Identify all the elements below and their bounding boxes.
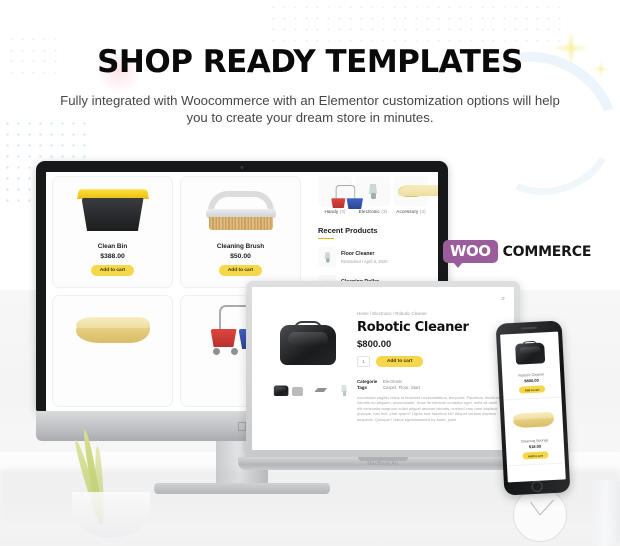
mobile-product-card[interactable]: Cleaning Sponge $18.00 Add to cart xyxy=(504,397,565,466)
glass-decor xyxy=(592,480,620,546)
category-list: Handy (3) xyxy=(318,176,432,214)
woo-wordmark: COMMERCE xyxy=(503,244,592,260)
product-hero-image xyxy=(266,315,350,377)
product-card[interactable]: Cleaning Brush $50.00 Add to cart xyxy=(180,176,301,288)
product-image-robotic-cleaner xyxy=(500,336,565,372)
product-price: $388.00 xyxy=(100,253,125,260)
woo-badge: WOO xyxy=(443,240,498,263)
home-button-icon[interactable] xyxy=(531,481,543,493)
product-price: $18.00 xyxy=(529,444,541,450)
meta-row-tags: TagsCarpet, Floor, Start xyxy=(357,385,420,391)
category-count: (3) xyxy=(420,209,426,214)
product-name: Clean Bin xyxy=(98,243,127,250)
page-subtitle: Fully integrated with Woocommerce with a… xyxy=(58,92,562,126)
product-title: Robotic Cleaner xyxy=(357,320,469,335)
category-item-accessory[interactable]: Accessory (3) xyxy=(394,176,428,214)
macbook-screen: ⌕ xyxy=(252,287,514,450)
shop-sidebar: Handy (3) xyxy=(318,176,432,295)
add-to-cart-button[interactable]: Add to cart xyxy=(522,451,549,459)
product-image-sponge xyxy=(500,402,566,438)
product-card[interactable] xyxy=(52,295,173,407)
meta-value: Carpet, Floor, Start xyxy=(383,385,420,390)
product-thumbnail-gallery xyxy=(266,383,352,398)
plant-decor xyxy=(52,404,172,524)
category-thumb-accessory xyxy=(394,176,428,206)
category-name: Electronic xyxy=(359,209,380,214)
product-description: Accumsan sagittis tellus ut tincidunt ne… xyxy=(357,395,503,422)
add-to-cart-button[interactable]: Add to cart xyxy=(376,356,423,367)
recent-product-item[interactable]: Floor Cleaner Restocked / April 6, 2020 xyxy=(318,247,432,267)
floor-cleaner-icon xyxy=(322,250,333,264)
macbook-base: MacBook Air xyxy=(238,457,528,470)
product-price: $50.00 xyxy=(230,253,251,260)
thumbnail-4[interactable] xyxy=(335,383,352,398)
grey-box-icon xyxy=(291,385,304,397)
category-thumb-handy xyxy=(318,176,352,206)
product-image-sponge xyxy=(69,302,157,358)
product-meta: CategorieElectronic TagsCarpet, Floor, S… xyxy=(357,379,420,391)
search-icon[interactable]: ⌕ xyxy=(502,296,505,303)
add-to-cart-button[interactable]: Add to cart xyxy=(219,265,262,276)
meta-label: Tags xyxy=(357,385,383,391)
heading-underline xyxy=(318,238,334,239)
category-count: (3) xyxy=(381,209,387,214)
recent-product-meta: Restocked / April 6, 2020 xyxy=(341,259,388,264)
recent-product-thumb xyxy=(318,247,336,267)
recent-product-name: Floor Cleaner xyxy=(341,251,388,257)
breadcrumb: Home / Electronic / Robotic Cleaner xyxy=(357,311,427,316)
iphone-screen: Robotic Cleaner $800.00 Add to cart Clea… xyxy=(500,332,566,483)
watch-decor xyxy=(513,488,567,542)
category-name: Handy xyxy=(324,209,338,214)
product-price: $800.00 xyxy=(357,339,391,350)
product-name: Cleaning Sponge xyxy=(521,438,549,443)
product-name: Robotic Cleaner xyxy=(518,372,544,377)
meta-value: Electronic xyxy=(383,379,402,384)
iphone-body: Robotic Cleaner $800.00 Add to cart Clea… xyxy=(496,320,571,495)
macbook-device: ⌕ xyxy=(238,281,528,477)
product-name: Cleaning Brush xyxy=(217,243,264,250)
webcam-icon xyxy=(241,166,244,169)
category-item-handy[interactable]: Handy (3) xyxy=(318,176,352,214)
floor-cleaner-icon xyxy=(365,182,381,200)
cleaner-icon xyxy=(339,384,349,397)
category-label: Accessory (3) xyxy=(394,209,428,214)
product-card[interactable]: Clean Bin $388.00 Add to cart xyxy=(52,176,173,288)
product-price: $800.00 xyxy=(524,378,539,384)
dot-pattern-top xyxy=(268,2,568,42)
flat-pad-icon xyxy=(314,386,328,395)
quantity-stepper[interactable]: 1 xyxy=(357,356,370,367)
add-to-cart-button[interactable]: Add to cart xyxy=(91,265,134,276)
product-image-clean-bin xyxy=(69,183,157,239)
recent-products-heading: Recent Products xyxy=(318,226,432,235)
page-title: SHOP READY TEMPLATES xyxy=(0,44,620,80)
add-to-cart-button[interactable]: Add to cart xyxy=(518,386,545,394)
product-image-cleaning-brush xyxy=(197,183,285,239)
thumbnail-2[interactable] xyxy=(289,383,306,398)
speaker-icon xyxy=(521,327,537,330)
category-count: (3) xyxy=(340,209,346,214)
device-label: MacBook Air xyxy=(367,461,398,467)
mobile-product-card[interactable]: Robotic Cleaner $800.00 Add to cart xyxy=(500,332,561,401)
thumbnail-1[interactable] xyxy=(266,383,283,398)
woocommerce-logo: WOO COMMERCE xyxy=(443,240,591,263)
iphone-device: Robotic Cleaner $800.00 Add to cart Clea… xyxy=(496,320,571,495)
category-label: Handy (3) xyxy=(318,209,352,214)
category-name: Accessory xyxy=(396,209,418,214)
thumbnail-3[interactable] xyxy=(312,383,329,398)
macbook-lid: ⌕ xyxy=(246,281,520,457)
category-label: Electronic (3) xyxy=(356,209,390,214)
promo-banner: SHOP READY TEMPLATES Fully integrated wi… xyxy=(0,0,620,546)
